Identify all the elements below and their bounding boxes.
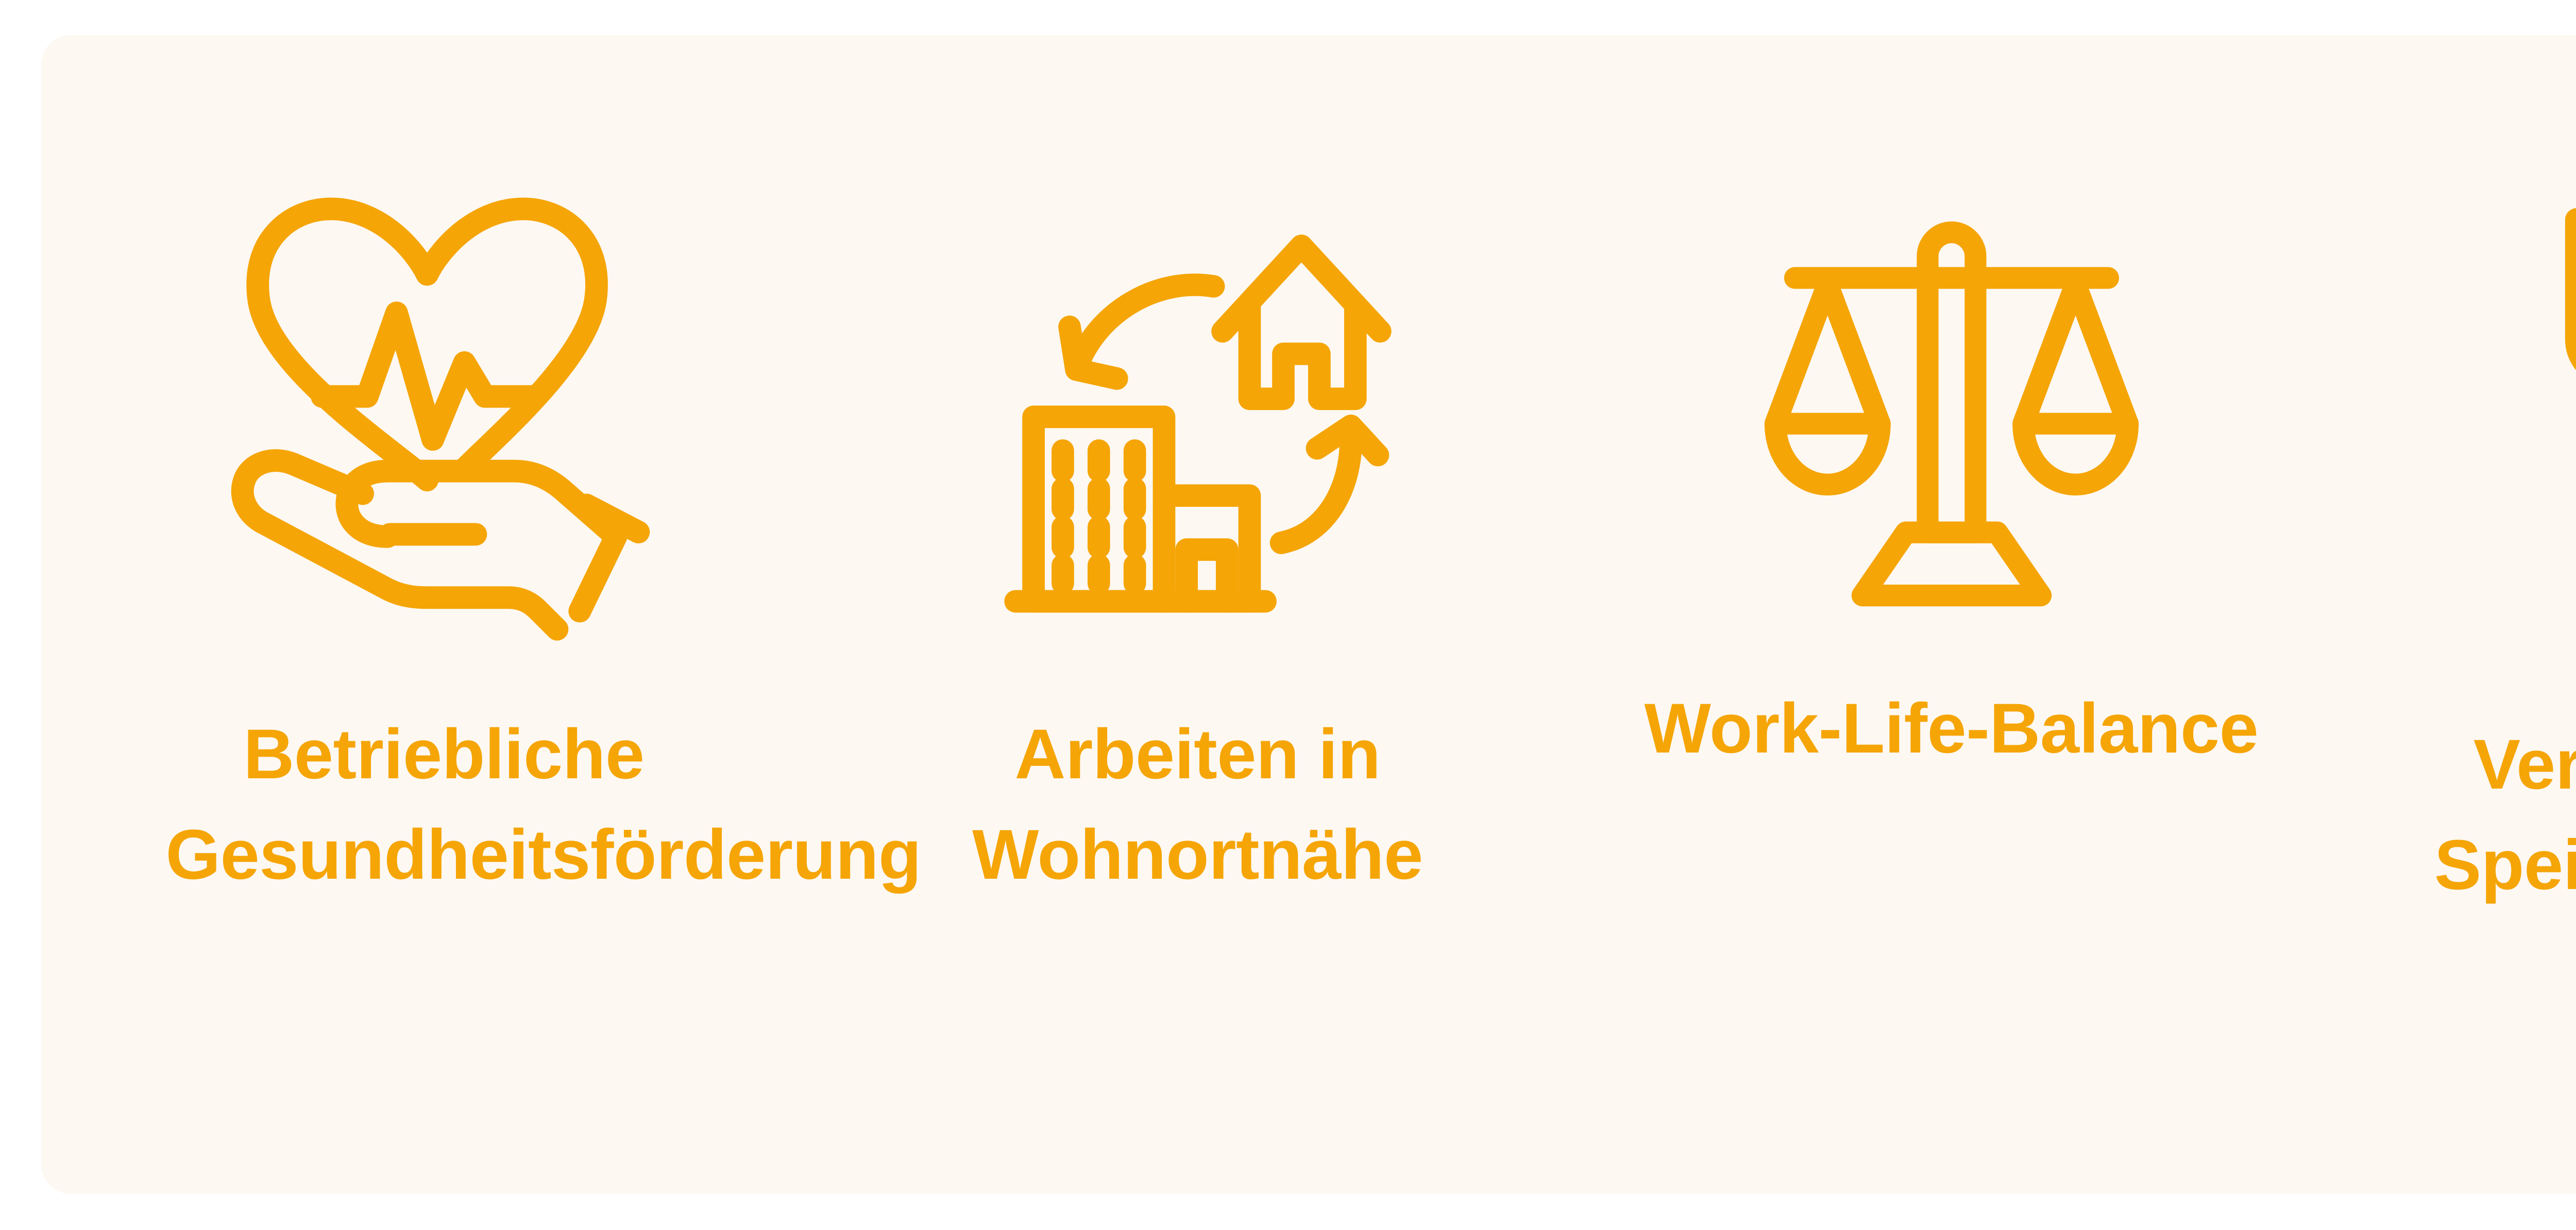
fork-and-knife-icon: [2556, 200, 2576, 653]
benefit-label: Vergünstigtes Speisenangebot: [2434, 715, 2576, 915]
benefit-label: Arbeiten in Wohnortnähe: [972, 705, 1423, 905]
office-to-home-arrows-icon: [984, 200, 1412, 643]
benefit-label: Work-Life-Balance: [1645, 679, 2259, 779]
benefits-card: Betriebliche Gesundheitsförderung: [41, 35, 2576, 1194]
benefit-item-verguenstigtes-speisenangebot[interactable]: Vergünstigtes Speisenangebot: [2328, 35, 2576, 915]
benefit-label: Betriebliche Gesundheitsförderung: [166, 705, 722, 905]
benefit-item-arbeiten-in-wohnortnaehe[interactable]: Arbeiten in Wohnortnähe: [821, 35, 1574, 905]
heart-in-hand-icon: [217, 200, 671, 643]
benefit-item-work-life-balance[interactable]: Work-Life-Balance: [1574, 35, 2328, 779]
balance-scales-icon: [1756, 200, 2147, 617]
benefit-item-betriebliche-gesundheitsfoerderung[interactable]: Betriebliche Gesundheitsförderung: [67, 35, 821, 905]
